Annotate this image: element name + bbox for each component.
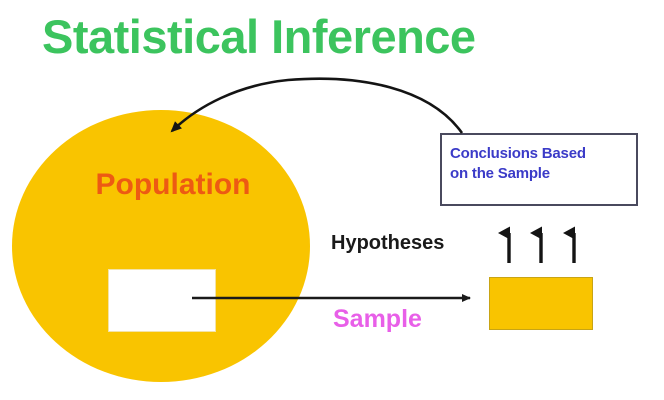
hypotheses-label: Hypotheses (331, 232, 444, 255)
conclusions-box: Conclusions Based on the Sample (440, 133, 638, 206)
conclusions-line-1: Conclusions Based (450, 145, 586, 162)
sample-rectangle (489, 277, 593, 330)
page-title: Statistical Inference (42, 8, 622, 66)
diagram-canvas: Statistical Inference Population Conclus… (0, 0, 664, 400)
conclusions-line-2: on the Sample (450, 165, 550, 182)
population-ellipse (12, 110, 310, 382)
conclusions-text: Conclusions Based on the Sample (450, 144, 634, 184)
sample-label: Sample (333, 305, 422, 334)
population-label: Population (58, 168, 288, 202)
sample-subset-rectangle (108, 269, 216, 332)
